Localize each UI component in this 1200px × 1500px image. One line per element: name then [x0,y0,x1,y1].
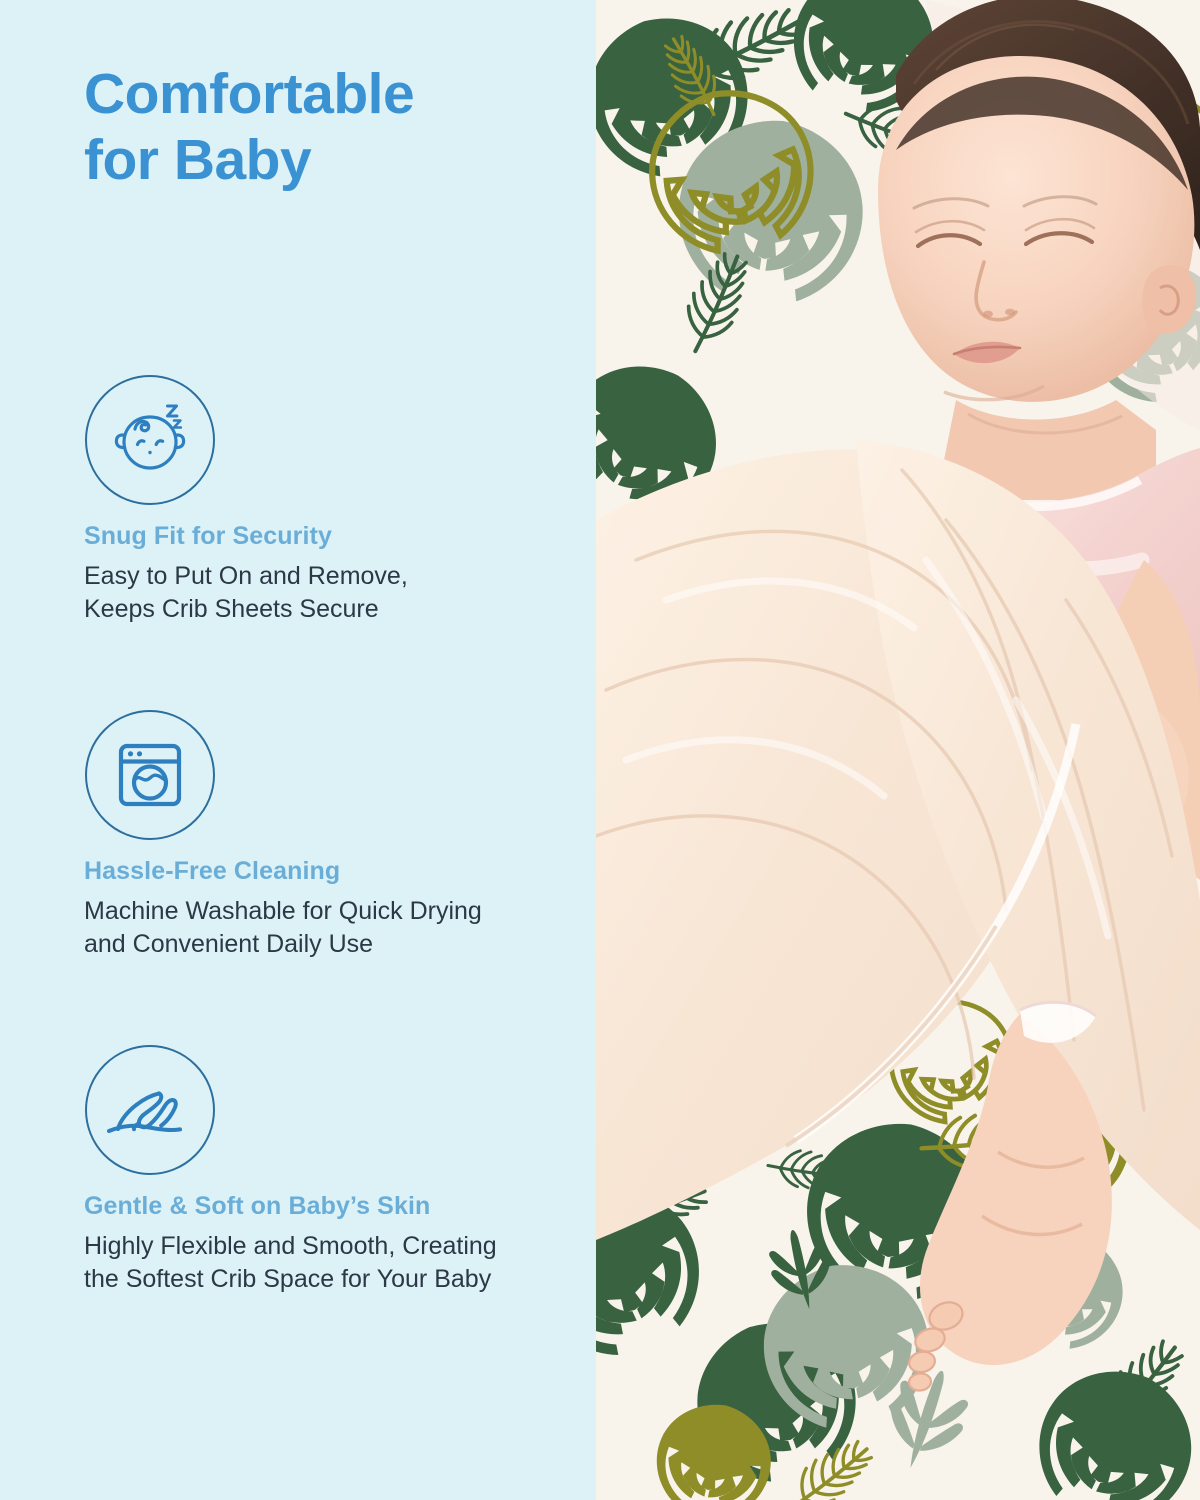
page-title-line-1: Comfortable [84,62,554,128]
feature-description: Highly Flexible and Smooth, Creating the… [84,1230,554,1296]
feature-item-gentle-soft: Gentle & Soft on Baby’s Skin Highly Flex… [0,1040,596,1375]
feature-description-line-1: Highly Flexible and Smooth, Creating [84,1230,554,1263]
feature-description-line-2: and Convenient Daily Use [84,928,554,961]
feature-description-line-1: Machine Washable for Quick Drying [84,895,554,928]
feature-item-cleaning: Hassle-Free Cleaning Machine Washable fo… [0,705,596,1040]
feature-description-line-2: the Softest Crib Space for Your Baby [84,1263,554,1296]
feature-title: Snug Fit for Security [84,522,332,551]
feature-description-line-1: Easy to Put On and Remove, [84,560,554,593]
feature-item-snug-fit: Snug Fit for Security Easy to Put On and… [0,370,596,705]
feature-description: Machine Washable for Quick Drying and Co… [84,895,554,961]
page-title-line-2: for Baby [84,128,554,194]
feature-title: Hassle-Free Cleaning [84,857,340,886]
page-title: Comfortable for Baby [84,62,554,193]
feature-list: Snug Fit for Security Easy to Put On and… [0,370,596,1375]
left-info-panel: Comfortable for Baby [0,0,596,1500]
product-feature-page: Comfortable for Baby [0,0,1200,1500]
feature-title: Gentle & Soft on Baby’s Skin [84,1192,430,1221]
sleeping-baby-icon [85,375,215,505]
feature-description-line-2: Keeps Crib Sheets Secure [84,593,554,626]
baby-on-crib-sheet-illustration [596,0,1200,1500]
product-lifestyle-photo [596,0,1200,1500]
hand-touching-fabric-icon [85,1045,215,1175]
feature-description: Easy to Put On and Remove, Keeps Crib Sh… [84,560,554,626]
washing-machine-icon [85,710,215,840]
